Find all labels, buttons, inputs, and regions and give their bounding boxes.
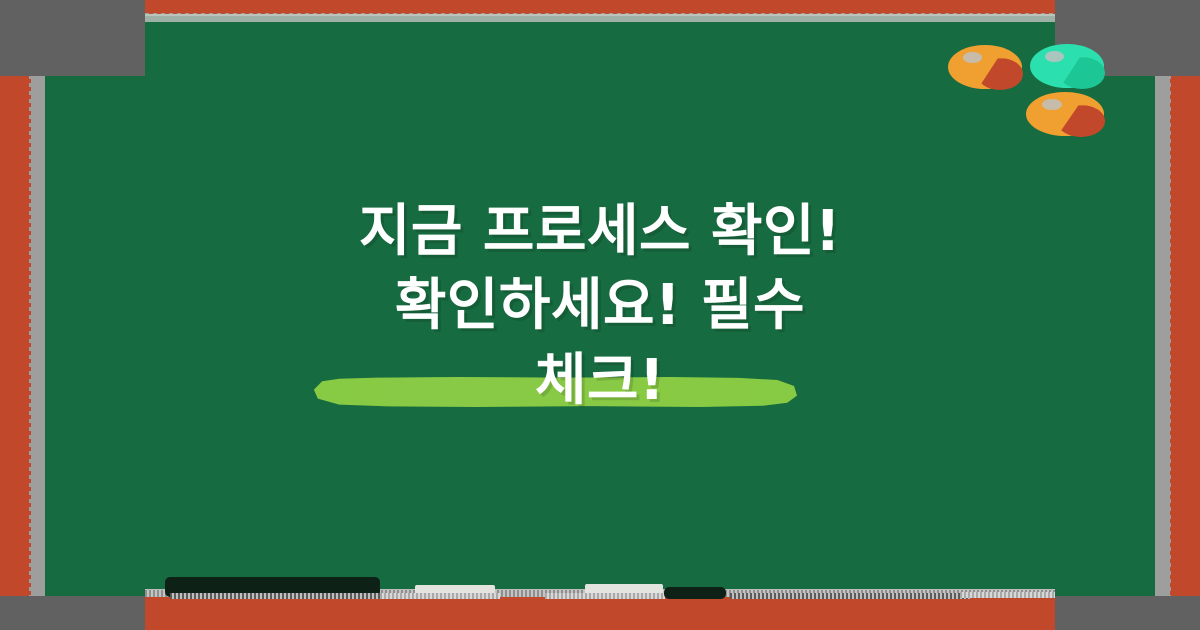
- eraser-small-icon: [664, 587, 726, 599]
- chalkboard-banner: 지금 프로세스 확인! 확인하세요! 필수 체크!: [0, 0, 1200, 630]
- frame-band-bottom: [145, 596, 1055, 630]
- board-rail-left: [31, 75, 45, 596]
- corner-block-bottom-left: [0, 596, 145, 630]
- chalk-blob-teal-icon: [1030, 44, 1104, 88]
- chalk-stick-2-dust: [545, 593, 665, 599]
- chalk-blob-highlight: [1042, 99, 1062, 110]
- chalk-tray-dust-right: [960, 592, 1055, 598]
- chalk-blob-highlight: [1045, 51, 1064, 62]
- headline-text: 지금 프로세스 확인! 확인하세요! 필수 체크!: [359, 195, 841, 418]
- board-rail-right: [1155, 75, 1170, 596]
- eraser-small-dust: [730, 593, 970, 599]
- chalk-blob-highlight: [963, 52, 982, 63]
- chalk-stick-1-dust: [380, 593, 500, 599]
- frame-band-top: [145, 0, 1055, 14]
- chalk-blob-shadow: [1059, 57, 1105, 89]
- corner-block-top-left: [0, 0, 145, 76]
- chalk-blob-shadow: [977, 58, 1023, 90]
- frame-band-right: [1170, 75, 1200, 630]
- chalk-blob-orange-left-icon: [948, 45, 1022, 89]
- frame-band-left: [0, 75, 31, 630]
- headline-block: 지금 프로세스 확인! 확인하세요! 필수 체크!: [45, 195, 1155, 418]
- chalk-blob-shadow: [1057, 105, 1105, 137]
- chalk-blob-orange-right-icon: [1026, 92, 1104, 136]
- corner-block-bottom-right: [1055, 596, 1200, 630]
- eraser-large-dust: [170, 593, 380, 599]
